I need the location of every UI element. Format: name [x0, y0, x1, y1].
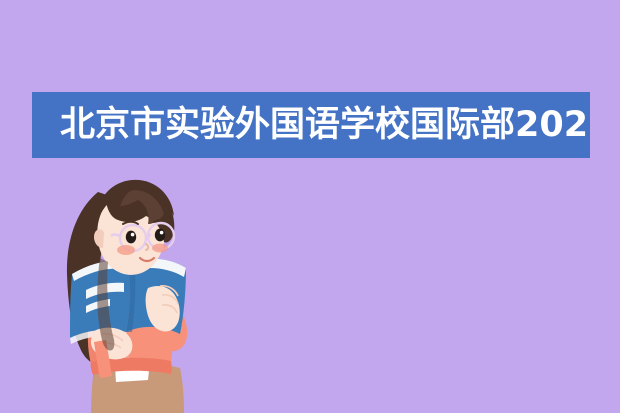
- slide-canvas: 北京市实验外国语学校国际部202: [0, 0, 620, 413]
- right-cheek-shape: [152, 244, 168, 253]
- title-banner: 北京市实验外国语学校国际部202: [32, 92, 590, 158]
- left-cheek-shape: [117, 245, 135, 255]
- right-eye-shape: [155, 229, 165, 242]
- page-title: 北京市实验外国语学校国际部202: [60, 108, 588, 143]
- girl-reading-book-illustration: [36, 158, 226, 413]
- left-eye-shape: [126, 231, 136, 244]
